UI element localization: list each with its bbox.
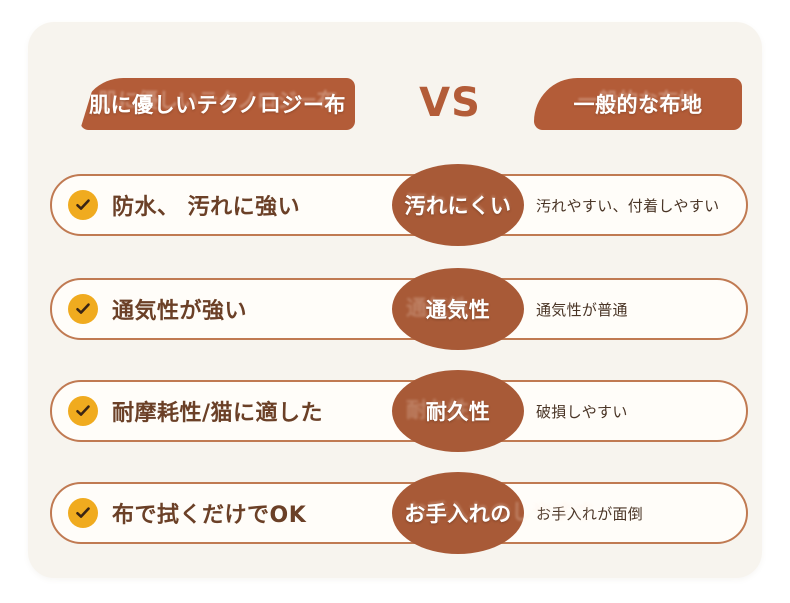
feature-badge: 耐久性 耐久性 bbox=[392, 370, 524, 452]
con-text: 汚れやすい、付着しやすい bbox=[536, 195, 719, 216]
comparison-row: 通気性が普通 通気性が強い 通気性 通気性 bbox=[28, 278, 762, 340]
comparison-card: 肌に優しいテクノロジー布 肌に優しいテクノロジー布 VS 一般的な布地 一般的な… bbox=[28, 22, 762, 578]
header-row: 肌に優しいテクノロジー布 肌に優しいテクノロジー布 VS 一般的な布地 一般的な… bbox=[28, 22, 762, 142]
header-pill-technology-fabric[interactable]: 肌に優しいテクノロジー布 肌に優しいテクノロジー布 bbox=[80, 78, 355, 130]
check-icon bbox=[68, 498, 98, 528]
feature-badge: 汚れにくい 汚れにくい bbox=[392, 164, 524, 246]
con-text: 破損しやすい bbox=[536, 401, 628, 422]
header-left-label: 肌に優しいテクノロジー布 bbox=[89, 89, 346, 119]
comparison-row: 汚れやすい、付着しやすい 防水、 汚れに強い 汚れにくい 汚れにくい bbox=[28, 174, 762, 236]
pro-text: 防水、 汚れに強い bbox=[112, 189, 300, 221]
pro-pill: 通気性が強い bbox=[50, 278, 450, 340]
comparison-row: お手入れが面倒 布で拭くだけでOK お手入れのしやすさ お手入れの bbox=[28, 482, 762, 544]
pro-text: 布で拭くだけでOK bbox=[112, 497, 306, 529]
feature-badge-label: 耐久性 bbox=[426, 396, 491, 426]
pro-pill: 布で拭くだけでOK bbox=[50, 482, 450, 544]
con-text: お手入れが面倒 bbox=[536, 503, 643, 524]
check-icon bbox=[68, 190, 98, 220]
check-icon bbox=[68, 396, 98, 426]
pro-text: 通気性が強い bbox=[112, 293, 247, 325]
vs-label: VS bbox=[395, 80, 505, 126]
check-icon bbox=[68, 294, 98, 324]
comparison-row: 破損しやすい 耐摩耗性/猫に適した 耐久性 耐久性 bbox=[28, 380, 762, 442]
feature-badge-label: 汚れにくい bbox=[404, 190, 511, 220]
con-text: 通気性が普通 bbox=[536, 299, 628, 320]
feature-badge: お手入れのしやすさ お手入れの bbox=[392, 472, 524, 554]
header-pill-ordinary-fabric[interactable]: 一般的な布地 一般的な布地 bbox=[534, 78, 742, 130]
feature-badge-label: 通気性 bbox=[426, 294, 491, 324]
feature-badge-label: お手入れの bbox=[404, 498, 512, 528]
pro-text: 耐摩耗性/猫に適した bbox=[112, 395, 323, 427]
pro-pill: 耐摩耗性/猫に適した bbox=[50, 380, 450, 442]
pro-pill: 防水、 汚れに強い bbox=[50, 174, 450, 236]
header-right-label: 一般的な布地 bbox=[574, 89, 703, 119]
feature-badge: 通気性 通気性 bbox=[392, 268, 524, 350]
